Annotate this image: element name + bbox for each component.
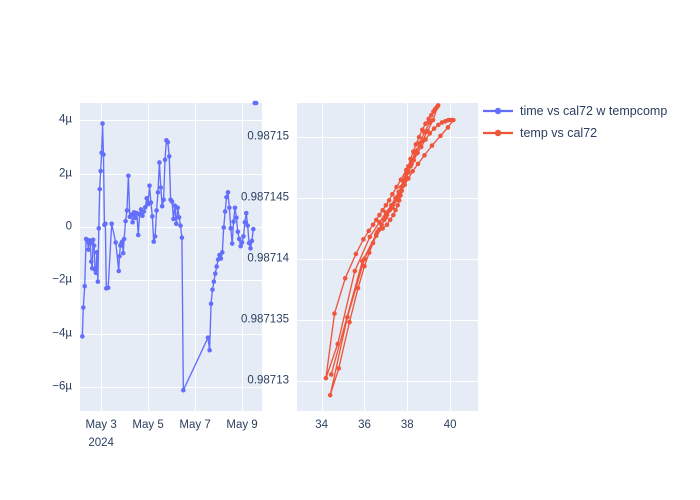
data-point[interactable] xyxy=(362,257,367,262)
data-point[interactable] xyxy=(97,187,102,192)
data-point[interactable] xyxy=(244,211,249,216)
x-tick-label: 34 xyxy=(315,420,328,432)
data-point[interactable] xyxy=(387,198,392,203)
data-point[interactable] xyxy=(423,121,428,126)
data-point[interactable] xyxy=(375,230,380,235)
data-point[interactable] xyxy=(81,305,86,310)
data-point[interactable] xyxy=(231,219,236,224)
plotly-figure: May 3May 5May 7May 920244µ2µ0−2µ−4µ−6µ34… xyxy=(0,0,700,500)
legend[interactable]: time vs cal72 w tempcomp temp vs cal72 xyxy=(482,103,667,141)
data-point[interactable] xyxy=(368,235,373,240)
data-point[interactable] xyxy=(401,183,406,188)
data-point[interactable] xyxy=(150,214,155,219)
data-point[interactable] xyxy=(157,160,162,165)
data-point[interactable] xyxy=(413,152,418,157)
data-point[interactable] xyxy=(142,209,147,214)
data-point[interactable] xyxy=(432,126,437,131)
data-point[interactable] xyxy=(403,177,408,182)
data-point[interactable] xyxy=(438,134,443,139)
data-point[interactable] xyxy=(167,154,172,159)
x-tick-label: May 9 xyxy=(226,420,257,432)
data-point[interactable] xyxy=(417,135,422,140)
data-point[interactable] xyxy=(362,264,367,269)
legend-swatch-icon xyxy=(482,126,514,140)
data-point[interactable] xyxy=(153,234,158,239)
data-point[interactable] xyxy=(436,103,441,108)
data-point[interactable] xyxy=(361,237,366,242)
data-point[interactable] xyxy=(136,233,141,238)
x-tick-label: May 3 xyxy=(85,420,116,432)
data-point[interactable] xyxy=(214,264,219,269)
data-point[interactable] xyxy=(377,213,382,218)
data-point[interactable] xyxy=(428,120,433,125)
data-point[interactable] xyxy=(422,130,427,135)
y-tick-label: 0.98714 xyxy=(0,253,289,265)
data-point[interactable] xyxy=(223,209,228,214)
data-point[interactable] xyxy=(91,238,96,243)
data-point[interactable] xyxy=(82,284,87,289)
x-tick-label: May 7 xyxy=(179,420,210,432)
data-point[interactable] xyxy=(347,320,352,325)
data-point[interactable] xyxy=(113,240,118,245)
data-point[interactable] xyxy=(86,247,91,252)
data-point[interactable] xyxy=(100,121,105,126)
y-tick-label: 4µ xyxy=(0,115,72,127)
data-point[interactable] xyxy=(241,234,246,239)
x-axis-period-label: 2024 xyxy=(88,437,114,449)
data-point[interactable] xyxy=(151,239,156,244)
y-tick-label: 0.987145 xyxy=(0,192,289,204)
data-point[interactable] xyxy=(254,101,259,106)
data-point[interactable] xyxy=(130,220,135,225)
legend-label: time vs cal72 w tempcomp xyxy=(520,104,667,118)
data-point[interactable] xyxy=(94,271,99,276)
data-point[interactable] xyxy=(174,222,179,227)
data-point[interactable] xyxy=(371,222,376,227)
data-point[interactable] xyxy=(154,208,159,213)
data-point[interactable] xyxy=(446,125,451,130)
data-point[interactable] xyxy=(384,203,389,208)
data-point[interactable] xyxy=(147,183,152,188)
data-point[interactable] xyxy=(366,229,371,234)
data-point[interactable] xyxy=(328,393,333,398)
data-point[interactable] xyxy=(343,276,348,281)
x-tick-label: 36 xyxy=(358,420,371,432)
data-point[interactable] xyxy=(92,243,97,248)
data-point[interactable] xyxy=(209,302,214,307)
subplot-temp-vs-cal72[interactable] xyxy=(297,103,478,411)
data-point[interactable] xyxy=(390,205,395,210)
data-point[interactable] xyxy=(245,223,250,228)
data-point[interactable] xyxy=(332,311,337,316)
data-point[interactable] xyxy=(207,348,212,353)
data-point[interactable] xyxy=(422,153,427,158)
y-tick-label: 0 xyxy=(0,221,72,233)
legend-item-time-vs-cal72[interactable]: time vs cal72 w tempcomp xyxy=(482,103,667,119)
data-point[interactable] xyxy=(391,213,396,218)
x-tick-label: 38 xyxy=(401,420,414,432)
data-point[interactable] xyxy=(385,222,390,227)
y-tick-label: −4µ xyxy=(0,328,72,340)
data-point[interactable] xyxy=(394,185,399,190)
data-point[interactable] xyxy=(240,240,245,245)
data-point[interactable] xyxy=(416,162,421,167)
data-point[interactable] xyxy=(353,269,358,274)
legend-swatch-icon xyxy=(482,104,514,118)
data-point[interactable] xyxy=(384,215,389,220)
data-point[interactable] xyxy=(160,204,165,209)
data-point[interactable] xyxy=(329,372,334,377)
data-point[interactable] xyxy=(395,197,400,202)
data-point[interactable] xyxy=(234,215,239,220)
y-tick-label: 0.987135 xyxy=(0,314,289,326)
data-point[interactable] xyxy=(410,169,415,174)
data-point[interactable] xyxy=(158,185,163,190)
data-point[interactable] xyxy=(354,252,359,257)
data-point[interactable] xyxy=(233,206,238,211)
data-point[interactable] xyxy=(171,217,176,222)
data-point[interactable] xyxy=(251,227,256,232)
data-point[interactable] xyxy=(140,214,145,219)
y-tick-label: −2µ xyxy=(0,275,72,287)
data-point[interactable] xyxy=(248,246,253,251)
data-point[interactable] xyxy=(106,286,111,291)
data-point[interactable] xyxy=(356,286,361,291)
x-tick-label: May 5 xyxy=(132,420,163,432)
data-point[interactable] xyxy=(390,192,395,197)
data-point[interactable] xyxy=(379,222,384,227)
data-point[interactable] xyxy=(398,190,403,195)
y-tick-label: 0.98713 xyxy=(0,375,289,387)
data-point[interactable] xyxy=(109,222,114,227)
data-point[interactable] xyxy=(228,226,233,231)
data-point[interactable] xyxy=(395,203,400,208)
legend-item-temp-vs-cal72[interactable]: temp vs cal72 xyxy=(482,125,667,141)
data-point[interactable] xyxy=(345,315,350,320)
trace-line[interactable] xyxy=(326,105,453,395)
data-point[interactable] xyxy=(96,279,101,284)
data-point[interactable] xyxy=(177,215,182,220)
data-point[interactable] xyxy=(175,206,180,211)
data-point[interactable] xyxy=(451,118,456,123)
data-point[interactable] xyxy=(371,241,376,246)
data-point[interactable] xyxy=(163,158,168,163)
data-point[interactable] xyxy=(236,230,241,235)
data-point[interactable] xyxy=(409,162,414,167)
data-point[interactable] xyxy=(133,216,138,221)
data-point[interactable] xyxy=(210,287,215,292)
data-point[interactable] xyxy=(324,376,329,381)
data-point[interactable] xyxy=(423,137,428,142)
data-point[interactable] xyxy=(122,237,127,242)
data-point[interactable] xyxy=(227,206,232,211)
data-point[interactable] xyxy=(250,239,255,244)
data-point[interactable] xyxy=(126,174,131,179)
data-point[interactable] xyxy=(103,222,108,227)
data-point[interactable] xyxy=(406,170,411,175)
data-point[interactable] xyxy=(212,279,217,284)
y-tick-label: 2µ xyxy=(0,168,72,180)
data-point[interactable] xyxy=(101,152,106,157)
data-point[interactable] xyxy=(98,169,103,174)
data-point[interactable] xyxy=(178,223,183,228)
data-point[interactable] xyxy=(221,225,226,230)
x-tick-label: 40 xyxy=(444,420,457,432)
data-point[interactable] xyxy=(428,131,433,136)
data-point[interactable] xyxy=(367,250,372,255)
data-point[interactable] xyxy=(417,141,422,146)
data-point[interactable] xyxy=(180,235,185,240)
data-point[interactable] xyxy=(181,388,186,393)
data-point[interactable] xyxy=(206,335,211,340)
data-point[interactable] xyxy=(430,143,435,148)
data-point[interactable] xyxy=(213,271,218,276)
data-point[interactable] xyxy=(96,226,101,231)
data-point[interactable] xyxy=(125,208,130,213)
data-point[interactable] xyxy=(335,342,340,347)
legend-label: temp vs cal72 xyxy=(520,126,597,140)
y-tick-label: 0.98715 xyxy=(0,131,289,143)
data-point[interactable] xyxy=(336,366,341,371)
data-point[interactable] xyxy=(230,241,235,246)
data-point[interactable] xyxy=(80,334,85,339)
data-point[interactable] xyxy=(388,218,393,223)
data-point[interactable] xyxy=(123,219,128,224)
data-point[interactable] xyxy=(116,269,121,274)
